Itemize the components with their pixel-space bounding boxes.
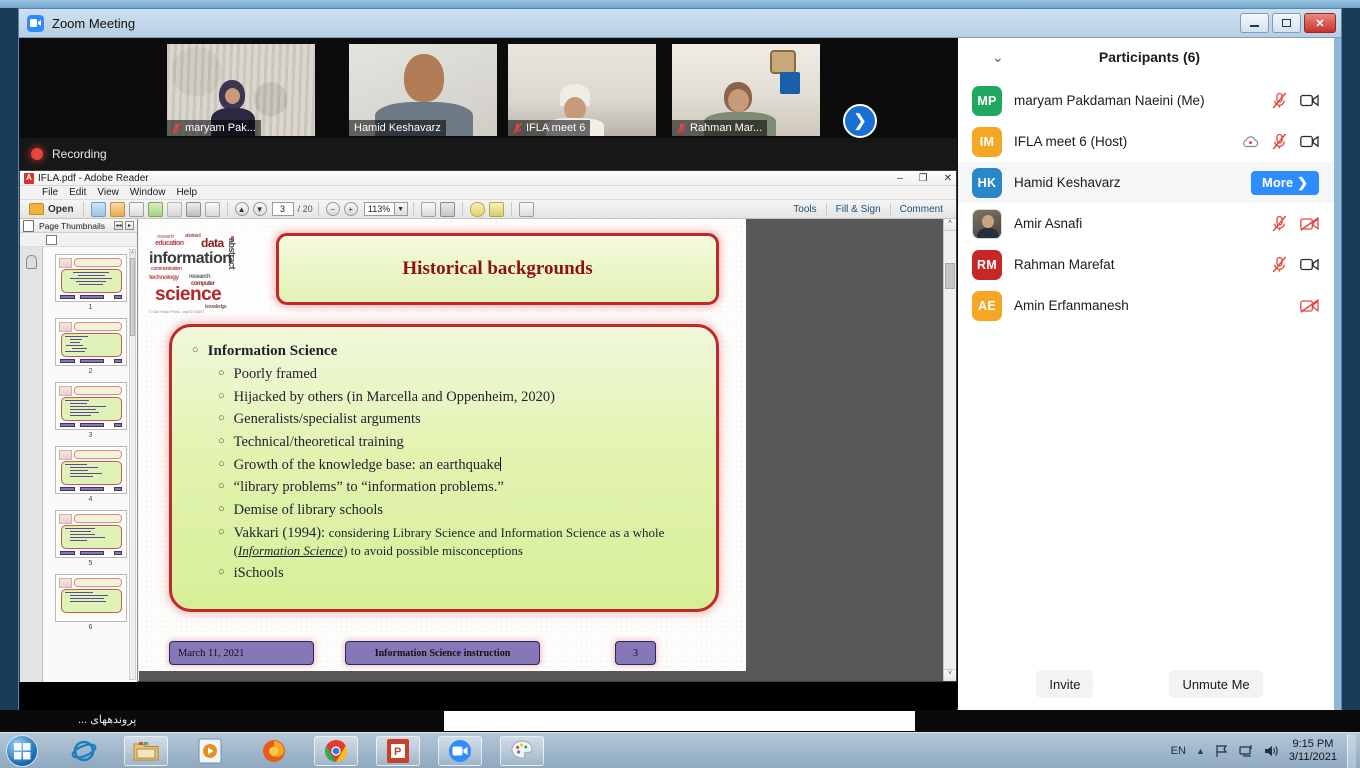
taskbar-white-strip <box>444 711 915 731</box>
thumbnail-item[interactable]: 1 <box>55 254 127 311</box>
mic-muted-icon <box>677 123 686 134</box>
desktop-top-strip <box>0 0 1360 8</box>
mini-title <box>74 258 122 267</box>
participants-footer: Invite Unmute Me <box>958 658 1341 710</box>
more-button-label: More <box>1262 175 1293 190</box>
bullet-marker-icon: ○ <box>218 389 225 405</box>
thumbnail-number: 4 <box>55 496 127 503</box>
previous-page-button[interactable]: ▲ <box>235 202 249 216</box>
mini-footer <box>60 551 122 555</box>
page-thumbnails-pane: Page Thumbnails ◂◂ ▸ <box>20 219 138 682</box>
plus-circle-icon: + <box>348 205 353 214</box>
bullet-text: Poorly framed <box>234 366 317 384</box>
bullet-text: “library problems” to “information probl… <box>234 479 504 497</box>
toolbar-divider <box>413 202 414 216</box>
video-tile-2[interactable]: IFLA meet 6 <box>508 44 656 136</box>
participant-face <box>404 54 444 102</box>
participants-title: Participants (6) <box>958 49 1341 65</box>
reader-window-controls: – ❐ ✕ <box>897 171 952 186</box>
menu-help[interactable]: Help <box>176 187 197 198</box>
thumbnail-card[interactable] <box>55 318 127 366</box>
reader-maximize-button[interactable]: ❐ <box>919 173 928 184</box>
mini-body <box>61 397 122 421</box>
action-center-flag-icon[interactable] <box>1215 744 1229 758</box>
toolbar-divider <box>462 202 463 216</box>
mic-muted-icon <box>513 123 522 134</box>
close-button[interactable]: ✕ <box>1304 13 1336 33</box>
participant-row-amir[interactable]: Amir Asnafi <box>958 203 1341 244</box>
invite-button[interactable]: Invite <box>1036 670 1093 698</box>
avatar-photo-body <box>977 228 999 239</box>
paint-icon[interactable] <box>500 736 544 766</box>
cloud-upload-icon[interactable] <box>148 202 163 217</box>
bullet-marker-icon: ○ <box>192 343 199 359</box>
text-cursor <box>500 457 501 471</box>
slide-footer-page-number: 3 <box>615 641 656 665</box>
slide-footer-date: March 11, 2021 <box>169 641 314 665</box>
taskbar-window-label[interactable]: پروندههای ... <box>78 713 136 726</box>
scrollbar-thumb[interactable] <box>945 263 955 289</box>
bullet-marker-icon: ○ <box>218 502 225 518</box>
open-button[interactable]: Open <box>25 203 78 215</box>
bullet-level2: ○ Vakkari (1994): considering Library Sc… <box>218 525 698 560</box>
participants-header: ⌄ Participants (6) <box>958 38 1341 76</box>
mini-body <box>61 461 122 485</box>
mic-muted-icon[interactable] <box>1272 215 1287 232</box>
avatar: HK <box>972 168 1002 198</box>
reader-menubar: File Edit View Window Help ▪ <box>20 186 956 200</box>
video-tile-1[interactable]: Hamid Keshavarz <box>349 44 497 136</box>
participant-face <box>225 88 240 104</box>
email-icon[interactable] <box>205 202 220 217</box>
zoom-window-title: Zoom Meeting <box>52 16 135 31</box>
thumbnail-item[interactable]: 2 <box>55 318 127 375</box>
minimize-icon <box>1250 25 1259 27</box>
video-tile-nameplate: maryam Pak... <box>167 120 261 136</box>
mini-footer <box>60 423 122 427</box>
options-menu-icon[interactable] <box>46 235 57 245</box>
recording-dot-icon <box>31 148 43 160</box>
video-on-icon[interactable] <box>1300 258 1319 271</box>
mini-wordcloud <box>59 386 72 396</box>
mic-muted-icon[interactable] <box>1272 256 1287 273</box>
thumbnail-number: 5 <box>55 560 127 567</box>
slide-footer-title: Information Science instruction <box>345 641 540 665</box>
svg-text:P: P <box>394 746 401 758</box>
participant-name: maryam Pakdaman Naeini (Me) <box>1014 93 1272 108</box>
video-tile-nameplate: IFLA meet 6 <box>508 120 590 136</box>
powerpoint-icon[interactable]: P <box>376 736 420 766</box>
mini-title <box>74 322 122 331</box>
mini-wordcloud <box>59 578 72 588</box>
thumbnails-prev-button[interactable]: ◂◂ <box>114 221 123 230</box>
video-thumbnail-strip: maryam Pak... Hamid Keshavarz IFLA meet <box>19 38 957 138</box>
chevron-right-icon: ❯ <box>1297 175 1308 191</box>
participant-status-icons <box>1272 256 1319 273</box>
participant-row-maryam[interactable]: MP maryam Pakdaman Naeini (Me) <box>958 80 1341 121</box>
bullet-text: Demise of library schools <box>234 502 383 520</box>
paperclip-icon[interactable] <box>26 255 37 269</box>
taskbar-clock[interactable]: 9:15 PM 3/11/2021 <box>1289 738 1337 764</box>
mini-body <box>61 333 122 357</box>
open-label: Open <box>48 204 74 215</box>
next-page-button[interactable]: ▼ <box>253 202 267 216</box>
participant-row-ifla[interactable]: IM IFLA meet 6 (Host) <box>958 121 1341 162</box>
bullet-marker-icon: ○ <box>218 525 225 541</box>
bullet-marker-icon: ○ <box>218 565 225 581</box>
slide-footer: March 11, 2021 Information Science instr… <box>167 641 719 667</box>
chevron-right-icon: ❯ <box>853 111 867 131</box>
thumbnail-item[interactable]: 4 <box>55 446 127 503</box>
adobe-reader-window: IFLA.pdf - Adobe Reader – ❐ ✕ File Edit … <box>19 170 957 682</box>
video-tile-nameplate: Hamid Keshavarz <box>349 120 446 136</box>
scroll-up-icon[interactable]: ˄ <box>944 219 956 231</box>
mini-body <box>61 269 122 293</box>
mini-title <box>74 514 122 523</box>
slide-title-box: Historical backgrounds <box>276 233 719 305</box>
slide-body-box: ○ Information Science ○ Poorly framed ○ … <box>169 324 719 612</box>
thumbnails-panel-title: Page Thumbnails <box>39 221 105 231</box>
participant-name: Amir Asnafi <box>1014 216 1272 231</box>
navigation-rail <box>20 247 43 682</box>
minimize-button[interactable] <box>1240 13 1269 33</box>
participant-row-amin[interactable]: AE Amin Erfanmanesh <box>958 285 1341 326</box>
thumbnail-card[interactable] <box>55 382 127 430</box>
mini-footer <box>60 359 122 363</box>
toolbar-divider <box>318 202 319 216</box>
thumbnail-card[interactable] <box>55 510 127 558</box>
volume-icon[interactable] <box>1264 744 1279 758</box>
mini-body <box>61 589 122 613</box>
panel-right-edge <box>1334 38 1341 710</box>
thumbnail-card[interactable] <box>55 574 127 622</box>
maximize-icon <box>1282 19 1291 27</box>
bullet-level2: ○ Demise of library schools <box>218 502 698 520</box>
bullet-lead: Vakkari (1994): <box>234 525 329 541</box>
avatar <box>972 209 1002 239</box>
media-player-icon[interactable] <box>188 736 232 766</box>
participant-name: Rahman Marefat <box>1014 257 1272 272</box>
more-button[interactable]: More ❯ <box>1251 171 1319 195</box>
video-off-icon[interactable] <box>1300 299 1319 313</box>
video-tile-nameplate: Rahman Mar... <box>672 120 767 136</box>
next-video-page-button[interactable]: ❯ <box>843 104 877 138</box>
zoom-share-bottom-area <box>19 682 957 710</box>
thumbnail-number: 6 <box>55 624 127 631</box>
mini-slide <box>58 449 124 491</box>
mic-muted-icon[interactable] <box>1272 92 1287 109</box>
mini-wordcloud <box>59 322 72 332</box>
thumbnails-next-button[interactable]: ▸ <box>125 221 134 230</box>
bullet-level2: ○ Technical/theoretical training <box>218 434 698 452</box>
bullet-italic-term: Information Science <box>238 543 343 558</box>
zoom-titlebar: Zoom Meeting ✕ <box>19 9 1341 38</box>
pdf-scrollbar[interactable]: ˄ ˅ <box>943 219 956 681</box>
mini-title <box>74 450 122 459</box>
toolbar-divider <box>227 202 228 216</box>
participant-status-icons <box>1242 133 1319 150</box>
mini-slide <box>58 257 124 299</box>
participant-name: Amin Erfanmanesh <box>1014 298 1300 313</box>
avatar: AE <box>972 291 1002 321</box>
bullet-level2: ○ iSchools <box>218 565 698 583</box>
bullet-text: Growth of the knowledge base: an earthqu… <box>234 457 501 475</box>
reader-toolbar: Open ▲ ▼ 3 / 20 − + 113% ▼ <box>20 200 956 219</box>
reader-toolbar-right: Tools Fill & Sign Comment <box>784 200 952 219</box>
firefox-icon[interactable] <box>252 736 296 766</box>
bullet-text: Generalists/specialist arguments <box>234 411 421 429</box>
folder-open-icon <box>29 203 44 215</box>
bullet-level2: ○ Generalists/specialist arguments <box>218 411 698 429</box>
thumbnail-card[interactable] <box>55 446 127 494</box>
sticky-note-icon[interactable] <box>470 202 485 217</box>
mini-wordcloud <box>59 450 72 460</box>
reader-close-button[interactable]: ✕ <box>944 173 952 184</box>
chevron-up-icon[interactable]: ▲ <box>1196 746 1205 756</box>
mini-wordcloud <box>59 258 72 268</box>
adobe-reader-icon <box>24 173 34 184</box>
zoom-meeting-window: Zoom Meeting ✕ maryam Pak... <box>18 8 1342 710</box>
slide-title: Historical backgrounds <box>402 258 592 280</box>
video-on-icon[interactable] <box>1300 135 1319 148</box>
video-tile-name: Hamid Keshavarz <box>354 122 441 134</box>
bullet-level2: ○ Hijacked by others (in Marcella and Op… <box>218 389 698 407</box>
mini-wordcloud <box>59 514 72 524</box>
menu-file[interactable]: File <box>42 187 58 198</box>
print-icon[interactable] <box>186 202 201 217</box>
bullet-text: iSchools <box>234 565 284 583</box>
video-tile-3[interactable]: Rahman Mar... <box>672 44 820 136</box>
bullet-rest-2: ) to avoid possible misconceptions <box>343 543 523 558</box>
minus-circle-icon: − <box>330 205 335 214</box>
participant-name: IFLA meet 6 (Host) <box>1014 134 1242 149</box>
mini-title <box>74 578 122 587</box>
chevron-down-icon[interactable]: ▼ <box>395 202 408 216</box>
mini-footer <box>60 295 122 299</box>
reader-window-title: IFLA.pdf - Adobe Reader <box>38 173 149 184</box>
chevron-down-icon[interactable]: ⌄ <box>992 49 1004 66</box>
mini-slide <box>58 577 124 619</box>
thumbnails-header-buttons: ◂◂ ▸ <box>114 221 134 230</box>
participant-status-icons <box>1272 215 1319 232</box>
mini-footer <box>60 487 122 491</box>
bullet-text: Hijacked by others (in Marcella and Oppe… <box>234 389 555 407</box>
mic-muted-icon[interactable] <box>1272 133 1287 150</box>
zoom-window-controls: ✕ <box>1240 13 1336 33</box>
video-off-icon[interactable] <box>1300 217 1319 231</box>
zoom-level-input[interactable]: 113% <box>364 202 395 216</box>
bullet-level1: ○ Information Science <box>192 343 698 360</box>
arrow-up-icon: ▲ <box>238 205 246 214</box>
clock-time: 9:15 PM <box>1289 738 1337 751</box>
windows-start-icon[interactable] <box>6 735 38 767</box>
recording-cloud-icon <box>1242 136 1259 148</box>
toolbar-divider <box>83 202 84 216</box>
maximize-button[interactable] <box>1272 13 1301 33</box>
video-tile-name: IFLA meet 6 <box>526 122 585 134</box>
bullet-level2: ○ Poorly framed <box>218 366 698 384</box>
mic-muted-icon <box>172 123 181 134</box>
avatar-photo-head <box>982 215 994 228</box>
export-pdf-icon[interactable] <box>110 202 125 217</box>
zoom-icon[interactable] <box>438 736 482 766</box>
participant-status-icons <box>1300 299 1319 313</box>
participant-row-hamid[interactable]: HK Hamid Keshavarz More ❯ <box>958 162 1341 203</box>
create-pdf-icon[interactable] <box>91 202 106 217</box>
wall-flag <box>780 72 800 94</box>
tools-button[interactable]: Tools <box>784 204 825 215</box>
pdf-page: research abstract education data ||| abs… <box>139 219 746 671</box>
thumbnail-number: 3 <box>55 432 127 439</box>
edit-pdf-icon[interactable] <box>129 202 144 217</box>
clock-date: 3/11/2021 <box>1289 751 1337 764</box>
thumbnail-number: 1 <box>55 304 127 311</box>
pdf-viewer-area[interactable]: research abstract education data ||| abs… <box>139 219 956 681</box>
avatar: IM <box>972 127 1002 157</box>
save-icon[interactable] <box>167 202 182 217</box>
language-indicator[interactable]: EN <box>1171 745 1186 757</box>
file-explorer-icon[interactable] <box>124 736 168 766</box>
video-tile-name: Rahman Mar... <box>690 122 762 134</box>
avatar: MP <box>972 86 1002 116</box>
thumbnail-number: 2 <box>55 368 127 375</box>
collapse-toolbar-icon[interactable]: ▪ <box>948 157 952 168</box>
system-tray: EN ▲ 9:15 PM 3/11/2021 <box>1171 733 1360 768</box>
recording-label: Recording <box>52 147 107 161</box>
bullet-marker-icon: ○ <box>218 479 225 495</box>
thumbnail-item[interactable]: 6 <box>55 574 127 631</box>
thumbnail-card[interactable] <box>55 254 127 302</box>
page-thumbnails-icon <box>23 220 34 232</box>
bullet-text: Technical/theoretical training <box>234 434 404 452</box>
zoom-in-button[interactable]: + <box>344 202 358 216</box>
bullet-text-composite: Vakkari (1994): considering Library Scie… <box>234 525 698 560</box>
menu-window[interactable]: Window <box>130 187 166 198</box>
reader-minimize-button[interactable]: – <box>897 173 903 184</box>
windows-taskbar: P EN ▲ 9:15 PM 3/11/2021 <box>0 732 1360 768</box>
mini-slide <box>58 385 124 427</box>
recording-indicator-bar: Recording <box>19 138 957 170</box>
menu-view[interactable]: View <box>97 187 119 198</box>
bullet-level2: ○ Growth of the knowledge base: an earth… <box>218 457 698 475</box>
thumbnail-item[interactable]: 3 <box>55 382 127 439</box>
wordcloud-copyright: © Can Stock Photo - csp20722697 <box>149 310 204 314</box>
mini-title <box>74 386 122 395</box>
slide-bullet-list: ○ Information Science ○ Poorly framed ○ … <box>172 327 716 583</box>
bullet-marker-icon: ○ <box>218 434 225 450</box>
mini-slide <box>58 513 124 555</box>
bullet-marker-icon: ○ <box>218 457 225 473</box>
scroll-down-icon[interactable]: ˅ <box>944 669 956 681</box>
menu-edit[interactable]: Edit <box>69 187 86 198</box>
mini-body <box>61 525 122 549</box>
video-tile-name: maryam Pak... <box>185 122 256 134</box>
participants-list: MP maryam Pakdaman Naeini (Me) IM IFLA m… <box>958 76 1341 326</box>
zoom-camera-icon <box>27 15 44 32</box>
reader-titlebar: IFLA.pdf - Adobe Reader – ❐ ✕ <box>20 171 956 186</box>
participants-panel: ⌄ Participants (6) MP maryam Pakdaman Na… <box>958 38 1341 710</box>
thumbnails-scrollbar[interactable]: ˄ <box>129 249 136 680</box>
bullet-text: Information Science <box>208 343 338 360</box>
page-total-label: / 20 <box>298 204 313 214</box>
bullet-marker-icon: ○ <box>218 411 225 427</box>
page-number-input[interactable]: 3 <box>272 202 294 216</box>
participant-face <box>728 89 749 112</box>
bullet-level2: ○ “library problems” to “information pro… <box>218 479 698 497</box>
bullet-marker-icon: ○ <box>218 366 225 382</box>
thumbnails-toolbar <box>20 233 137 247</box>
wall-frame <box>770 50 796 74</box>
highlight-icon[interactable] <box>489 202 504 217</box>
video-on-icon[interactable] <box>1300 94 1319 107</box>
mini-slide <box>58 321 124 363</box>
toolbar-divider <box>511 202 512 216</box>
avatar: RM <box>972 250 1002 280</box>
arrow-down-icon: ▼ <box>256 205 264 214</box>
participant-status-icons <box>1272 92 1319 109</box>
fit-page-icon[interactable] <box>440 202 455 217</box>
scrollbar-thumb[interactable] <box>130 258 135 336</box>
thumbnails-header: Page Thumbnails ◂◂ ▸ <box>20 219 137 233</box>
fill-and-sign-button[interactable]: Fill & Sign <box>827 204 890 215</box>
scroll-up-icon[interactable]: ˄ <box>130 250 135 257</box>
thumbnail-item[interactable]: 5 <box>55 510 127 567</box>
thumbnails-list[interactable]: 1 <box>44 247 137 682</box>
chrome-icon[interactable] <box>314 736 358 766</box>
fullscreen-icon[interactable] <box>519 202 534 217</box>
comment-button[interactable]: Comment <box>891 204 952 215</box>
video-tile-0[interactable]: maryam Pak... <box>167 44 315 136</box>
show-desktop-icon[interactable] <box>1347 734 1356 768</box>
wordcloud-image: research abstract education data ||| abs… <box>145 230 270 315</box>
fit-width-icon[interactable] <box>421 202 436 217</box>
internet-explorer-icon[interactable] <box>62 736 106 766</box>
zoom-out-button[interactable]: − <box>326 202 340 216</box>
participant-row-rahman[interactable]: RM Rahman Marefat <box>958 244 1341 285</box>
unmute-me-button[interactable]: Unmute Me <box>1169 670 1262 698</box>
participant-name: Hamid Keshavarz <box>1014 175 1251 190</box>
network-icon[interactable] <box>1239 744 1254 758</box>
